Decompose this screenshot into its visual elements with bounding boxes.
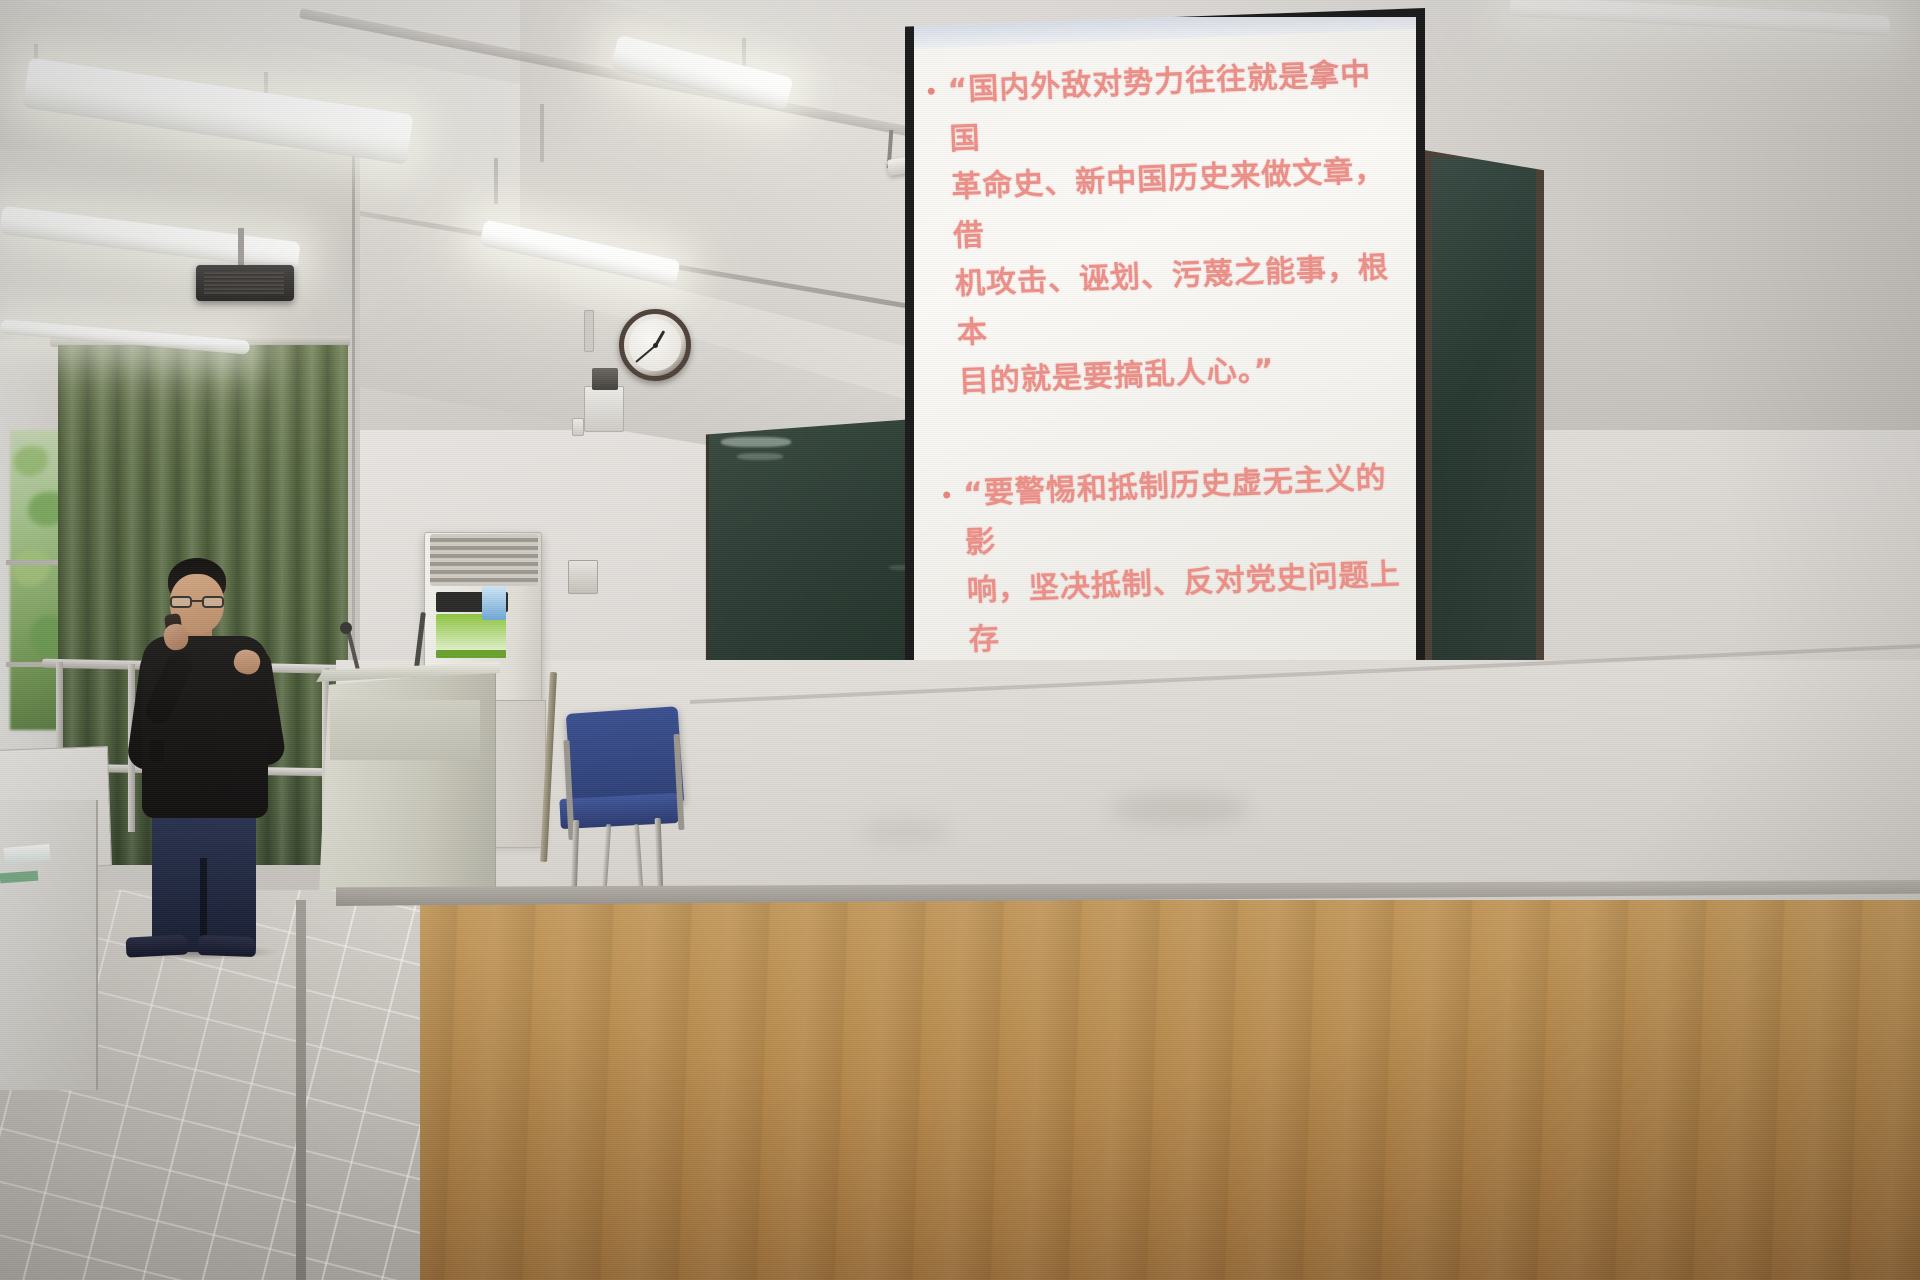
- slide-content: “国内外敌对势力往往就是拿中国 革命史、新中国历史来做文章，借 机攻击、诬划、污…: [905, 8, 1425, 700]
- glasses-icon: [168, 596, 228, 608]
- slide-line: “要警惕和抵制历史虚无主义的影: [962, 454, 1405, 568]
- lecturer-left-shoe: [126, 934, 189, 957]
- podium-microphone-head: [340, 622, 352, 634]
- floor-step-edge: [296, 900, 306, 1280]
- wall-outlet[interactable]: [568, 560, 598, 594]
- slide-bullet-1: “国内外敌对势力往往就是拿中国 革命史、新中国历史来做文章，借 机攻击、诬划、污…: [925, 50, 1400, 408]
- projection-screen: “国内外敌对势力往往就是拿中国 革命史、新中国历史来做文章，借 机攻击、诬划、污…: [905, 8, 1425, 700]
- projector-mount: [238, 228, 244, 268]
- lecturer-right-shoe: [198, 935, 257, 957]
- air-conditioner-sticker: [482, 586, 506, 620]
- classroom-photo: “国内外敌对势力往往就是拿中国 革命史、新中国历史来做文章，借 机攻击、诬划、污…: [0, 0, 1920, 1280]
- wall-conduit: [584, 310, 594, 352]
- slide-line: “国内外敌对势力往往就是拿中国: [947, 50, 1390, 164]
- light-hanger: [494, 158, 498, 204]
- wall-box-small: [572, 418, 584, 436]
- green-chalkboard-right: [1424, 150, 1544, 730]
- projector-grill: [204, 272, 284, 294]
- lecturer: [120, 558, 296, 950]
- slide-line: 机攻击、诬划、污蔑之能事，根本: [954, 245, 1397, 359]
- wood-floor: [300, 900, 1920, 1280]
- wall-junction-box: [584, 386, 624, 432]
- wall-sensor: [592, 368, 618, 390]
- slide-line: 响，坚决抵制、反对党史问题上存: [966, 551, 1409, 665]
- wall-scuff: [1110, 792, 1250, 826]
- lectern-panel: [330, 700, 480, 760]
- lecturer-belt-clip: [150, 740, 164, 762]
- wall-scuff: [860, 820, 950, 844]
- wall-clock: [619, 309, 691, 381]
- slide-line: 革命史、新中国历史来做文章，借: [951, 147, 1394, 261]
- air-conditioner-label-bar: [436, 650, 506, 658]
- air-conditioner-vent: [430, 534, 538, 586]
- light-hanger: [540, 104, 544, 162]
